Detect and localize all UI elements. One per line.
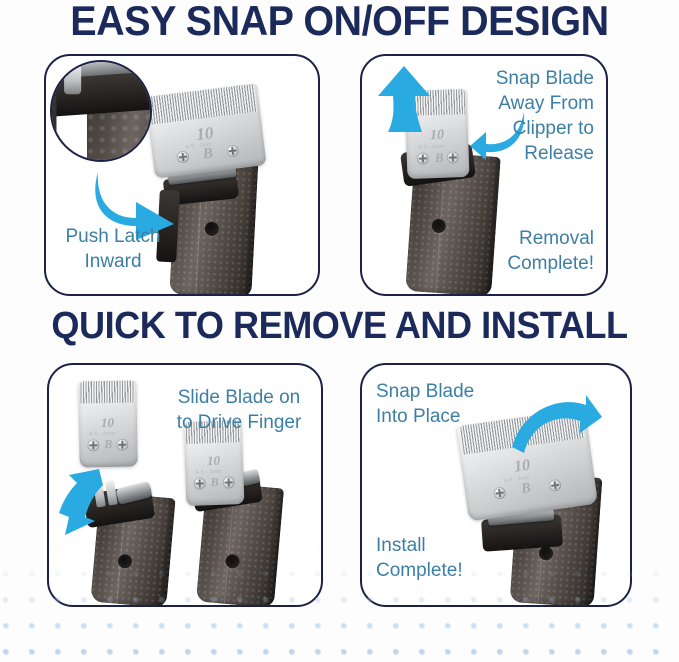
inset-detail-circle xyxy=(50,60,152,162)
blade-screw-left xyxy=(176,150,189,163)
caption-snap-blade-away: Snap Blade Away From Clipper to Release xyxy=(444,66,594,166)
blade-screw-left xyxy=(194,477,206,489)
panel-slide-blade-on: 10 A-5 - 2mm B 10 A-5 - 2mm B xyxy=(47,363,323,607)
down-left-arrow xyxy=(55,469,113,535)
blade-number: 10 xyxy=(513,457,531,477)
page-title-primary: EASY SNAP ON/OFF DESIGN xyxy=(20,0,658,44)
blade-logo: B xyxy=(104,437,112,452)
caption-removal-complete: Removal Complete! xyxy=(444,226,594,276)
blade-number: 10 xyxy=(430,128,445,144)
caption-slide-blade-on: Slide Blade on to Drive Finger xyxy=(161,385,317,435)
detached-blade: 10 A-5 - 2mm B xyxy=(78,381,137,468)
caption-snap-blade-into-place: Snap Blade Into Place xyxy=(376,379,526,429)
panel-push-latch: 10 A-5 - 2mm B Push Latch Inward xyxy=(44,54,320,296)
blade-screw-left xyxy=(87,439,99,451)
panel-snap-blade-into-place: 10 A-5 - 2mm B Snap Blade Into Place Ins… xyxy=(360,363,632,607)
clipper-blade: 10 A-5 - 2mm B xyxy=(145,83,266,178)
up-arrow xyxy=(378,66,430,132)
blade-number: 10 xyxy=(207,453,221,469)
blade-logo: B xyxy=(210,475,219,490)
body-port xyxy=(225,554,240,569)
body-port xyxy=(539,546,554,561)
blade-screw-left xyxy=(493,486,507,500)
panel-snap-blade-away: 10 A-5 - 2mm B Snap Blade Away From Clip… xyxy=(360,54,608,296)
inset-zoom-content xyxy=(50,60,152,162)
blade-logo: B xyxy=(435,150,444,166)
blade-logo: B xyxy=(520,481,531,498)
caption-install-complete: Install Complete! xyxy=(376,533,526,583)
blade-screw-right xyxy=(222,476,234,488)
blade-screw-right xyxy=(548,479,562,493)
inset-drive-finger xyxy=(64,64,81,94)
body-port xyxy=(204,222,219,237)
blade-number: 10 xyxy=(101,415,114,431)
infographic-stage: EASY SNAP ON/OFF DESIGN 10 A-5 - 2mm B xyxy=(0,0,679,662)
blade-teeth xyxy=(80,381,135,404)
blade-logo: B xyxy=(202,145,214,163)
body-port xyxy=(117,554,132,569)
blade-teeth xyxy=(149,84,257,124)
blade-screw-right xyxy=(226,144,239,157)
blade-screw-left xyxy=(417,152,429,164)
blade-screw-right xyxy=(116,439,128,451)
page-title-secondary: QUICK TO REMOVE AND INSTALL xyxy=(17,305,662,347)
caption-push-latch: Push Latch Inward xyxy=(46,224,180,274)
inset-latch-arm xyxy=(50,94,56,162)
